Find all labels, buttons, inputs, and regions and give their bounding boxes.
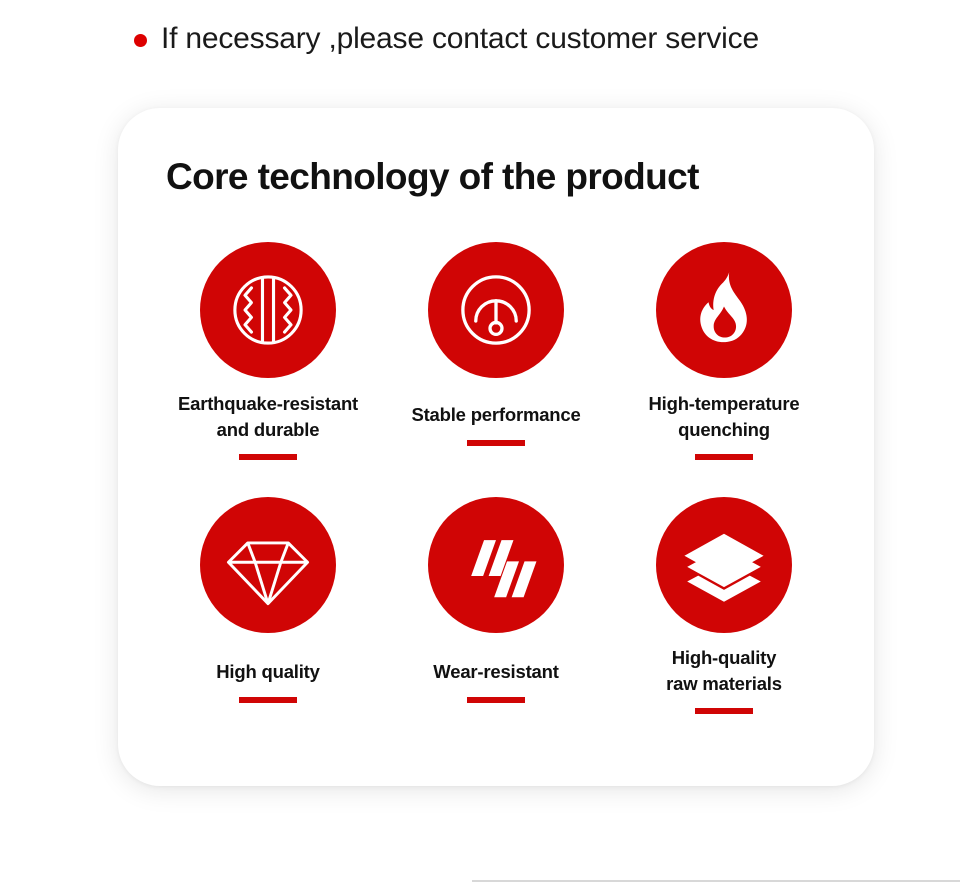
core-technology-card: Core technology of the product Earthquak…	[118, 108, 874, 786]
feature-item: Stable performance	[382, 242, 610, 497]
feature-item: Earthquake-resistant and durable	[154, 242, 382, 497]
accent-underline	[239, 454, 297, 460]
feature-item: High-temperature quenching	[610, 242, 838, 497]
accent-underline	[695, 708, 753, 714]
layers-icon	[656, 497, 792, 633]
feature-grid: Earthquake-resistant and durable Stable …	[154, 242, 838, 752]
accent-underline	[467, 697, 525, 703]
wear-resistant-bars-icon	[428, 497, 564, 633]
notice-line: If necessary ,please contact customer se…	[134, 22, 759, 56]
feature-label: Earthquake-resistant and durable	[178, 391, 358, 444]
bottom-divider	[472, 880, 960, 882]
page-title: Core technology of the product	[166, 156, 699, 198]
bullet-icon	[134, 34, 147, 47]
feature-item: High quality	[154, 497, 382, 752]
gauge-icon	[428, 242, 564, 378]
diamond-icon	[200, 497, 336, 633]
notice-text: If necessary ,please contact customer se…	[161, 22, 759, 56]
feature-item: High-quality raw materials	[610, 497, 838, 752]
accent-underline	[695, 454, 753, 460]
feature-item: Wear-resistant	[382, 497, 610, 752]
feature-label: High-quality raw materials	[666, 645, 782, 698]
earthquake-resistant-icon	[200, 242, 336, 378]
feature-label: Stable performance	[411, 402, 580, 428]
flame-icon	[656, 242, 792, 378]
feature-label: High-temperature quenching	[649, 391, 800, 444]
accent-underline	[467, 440, 525, 446]
accent-underline	[239, 697, 297, 703]
feature-label: High quality	[216, 659, 319, 685]
feature-label: Wear-resistant	[433, 659, 558, 685]
